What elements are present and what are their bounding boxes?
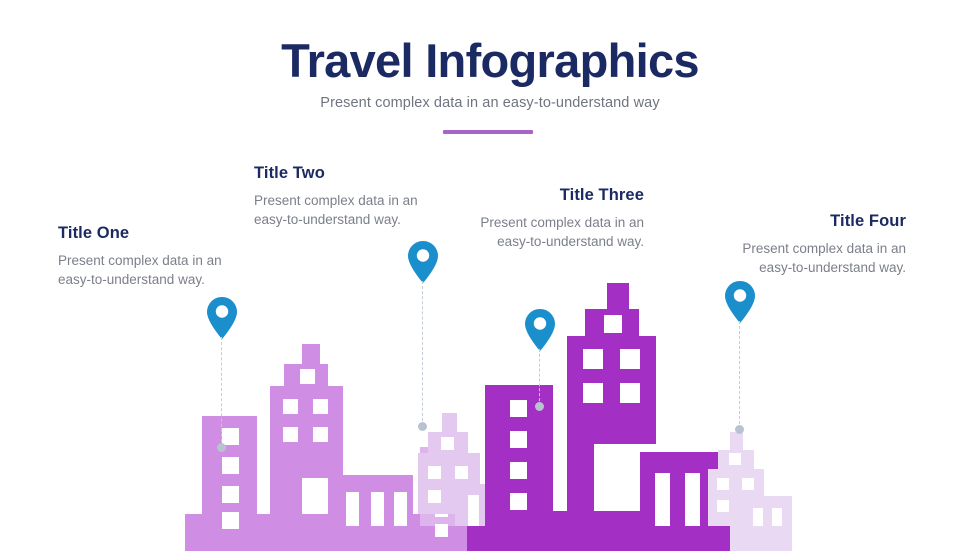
info-block-four-description: Present complex data in an easy-to-under… xyxy=(728,239,906,277)
building-right-pale-block xyxy=(740,496,792,526)
ground-bar-far-right xyxy=(730,514,792,551)
marker-one-leader-dot xyxy=(217,443,226,452)
info-block-three-title: Title Three xyxy=(466,186,644,205)
ground-bar-mid-light xyxy=(475,514,560,551)
info-block-two-title: Title Two xyxy=(254,164,430,183)
info-block-one-description: Present complex data in an easy-to-under… xyxy=(58,251,234,289)
infographic-slide: Travel Infographics Present complex data… xyxy=(0,0,980,551)
building-mid-pale-stepped-tower xyxy=(418,413,490,526)
header: Travel Infographics Present complex data… xyxy=(0,36,980,111)
building-centre-tallest-tower xyxy=(567,283,656,526)
marker-four-leader-line xyxy=(739,321,740,429)
info-block-two: Title Two Present complex data in an eas… xyxy=(254,164,430,229)
building-mid-lavender-slab xyxy=(420,447,465,537)
map-pin-icon[interactable] xyxy=(206,296,238,340)
info-block-one: Title One Present complex data in an eas… xyxy=(58,224,234,289)
marker-two-leader-dot xyxy=(418,422,427,431)
page-subtitle: Present complex data in an easy-to-under… xyxy=(0,95,980,111)
info-block-one-title: Title One xyxy=(58,224,234,243)
building-left-tower xyxy=(202,416,257,529)
map-pin-icon[interactable] xyxy=(524,308,556,352)
building-right-pale-tower xyxy=(708,432,764,526)
building-left-low-block xyxy=(328,475,413,526)
title-accent-bar xyxy=(443,130,533,134)
building-left-stepped-tower xyxy=(270,344,343,526)
info-block-three-description: Present complex data in an easy-to-under… xyxy=(466,213,644,251)
info-block-two-description: Present complex data in an easy-to-under… xyxy=(254,191,430,229)
map-pin-icon[interactable] xyxy=(724,280,756,324)
ground-bar-right xyxy=(467,511,792,551)
building-centre-low-block xyxy=(640,452,728,526)
page-title: Travel Infographics xyxy=(0,36,980,85)
marker-three-leader-dot xyxy=(535,402,544,411)
marker-one-leader-line xyxy=(221,337,222,447)
info-block-four: Title Four Present complex data in an ea… xyxy=(728,212,906,277)
info-block-four-title: Title Four xyxy=(728,212,906,231)
ground-bar-left xyxy=(185,514,475,551)
marker-four-leader-dot xyxy=(735,425,744,434)
marker-two-leader-line xyxy=(422,281,423,426)
marker-three-leader-line xyxy=(539,349,540,406)
info-block-three: Title Three Present complex data in an e… xyxy=(466,186,644,251)
map-pin-icon[interactable] xyxy=(407,240,439,284)
